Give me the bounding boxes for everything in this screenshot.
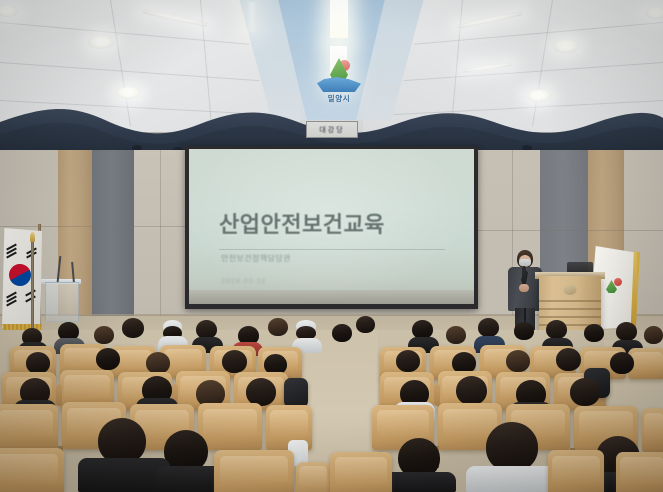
audience-head	[146, 352, 170, 374]
projection-screen: 산업안전보건교육 안전보건정책담당관 2024.03.12	[185, 146, 478, 309]
room-sign-icon: 대강당	[306, 121, 358, 138]
wall-seam	[0, 226, 200, 227]
flag-pole	[31, 238, 34, 334]
city-crest-icon	[606, 278, 623, 295]
podium-slat	[539, 300, 601, 302]
seat	[616, 452, 663, 492]
emblem-wave-icon	[317, 77, 361, 92]
audience-head	[96, 348, 120, 370]
wall-seam	[466, 230, 663, 231]
seat	[214, 450, 294, 492]
wall-column	[92, 150, 134, 340]
audience-head	[546, 320, 567, 339]
audience-head	[610, 352, 634, 374]
audience-head	[446, 326, 466, 344]
audience-shoulders	[466, 466, 558, 492]
audience-head	[122, 318, 144, 338]
recessed-downlight-icon	[116, 87, 140, 99]
projection-screen-surface: 산업안전보건교육 안전보건정책담당관 2024.03.12	[189, 149, 474, 304]
auditorium-photo: 밀양시	[0, 0, 663, 492]
audience-head	[486, 422, 538, 472]
city-emblem-icon	[317, 58, 361, 92]
audience-shoulders	[382, 472, 456, 492]
audience-head	[584, 324, 604, 342]
seat	[198, 403, 262, 450]
seat	[0, 404, 58, 450]
seat	[330, 452, 392, 492]
screen-lower-shade	[189, 290, 474, 304]
audience-head	[94, 326, 114, 344]
backpack-icon	[284, 378, 308, 408]
seat-armrest	[56, 384, 62, 406]
audience-head	[514, 322, 534, 340]
audience-head	[506, 350, 530, 372]
audience-head	[26, 352, 50, 374]
wall-seam	[160, 150, 161, 340]
handheld-microphone-icon	[522, 266, 526, 286]
city-emblem-label: 밀양시	[306, 93, 372, 104]
audience-head	[478, 318, 499, 337]
room-sign-label: 대강당	[319, 125, 344, 135]
recessed-downlight-icon	[553, 40, 579, 53]
led-panel-icon	[330, 0, 348, 38]
flag-finial-icon	[30, 232, 35, 242]
audience-head	[570, 378, 600, 406]
audience-head	[644, 326, 663, 344]
flag-cloth	[2, 228, 42, 328]
led-panel-icon	[249, 2, 255, 32]
recessed-downlight-icon	[645, 8, 663, 19]
audience-head	[332, 324, 352, 342]
korean-flag-icon	[2, 228, 42, 334]
audience-head	[616, 322, 637, 341]
seat	[642, 408, 663, 452]
seat	[296, 462, 330, 492]
lectern-icon	[45, 282, 79, 322]
audience-head	[356, 316, 375, 333]
audience-head	[456, 376, 487, 405]
seat-armrest	[434, 384, 440, 406]
podium-crest-icon	[564, 285, 577, 295]
audience-head	[268, 318, 288, 336]
slide-title: 산업안전보건교육	[219, 207, 385, 239]
city-emblem: 밀양시	[306, 58, 372, 110]
recessed-downlight-icon	[527, 90, 551, 102]
audience-head	[396, 350, 420, 372]
seat	[548, 450, 604, 492]
presenter-hand	[519, 284, 529, 292]
slide-subtitle: 안전보건정책담당관	[221, 253, 291, 264]
crest-sun-icon	[614, 278, 622, 286]
podium-slat	[539, 316, 601, 318]
audience-head	[222, 350, 247, 373]
slide-divider	[219, 249, 445, 250]
face-mask-icon	[519, 259, 531, 266]
seat	[0, 448, 64, 492]
podium-slat	[539, 308, 601, 310]
audience-head	[246, 378, 276, 406]
audience-head	[556, 348, 581, 371]
recessed-downlight-icon	[88, 36, 114, 49]
slide-date: 2024.03.12	[221, 277, 266, 285]
